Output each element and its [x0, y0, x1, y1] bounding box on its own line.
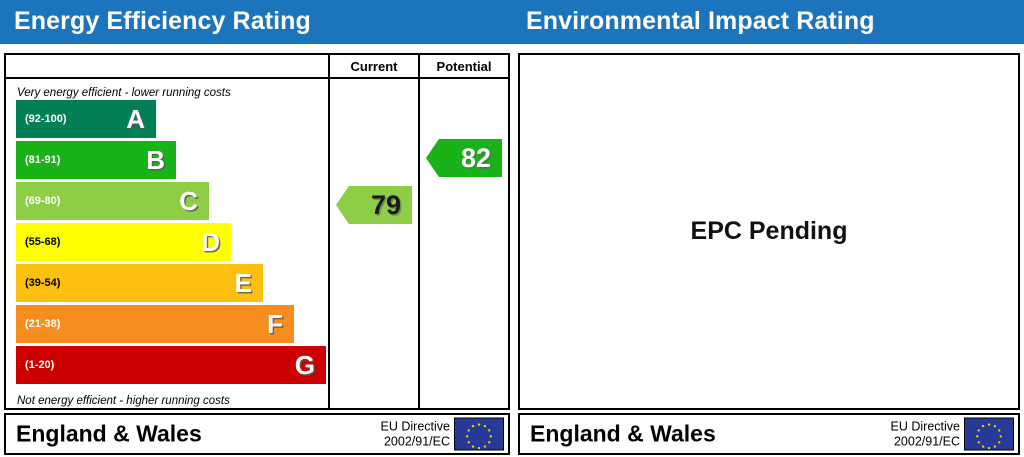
rating-band-d: (55-68)D — [16, 223, 231, 261]
rating-band-c: (69-80)C — [16, 182, 209, 220]
eu-directive-right: EU Directive 2002/91/EC — [891, 419, 960, 449]
eu-flag-icon — [964, 418, 1014, 451]
rating-band-f: (21-38)F — [16, 305, 294, 343]
eu-directive-line1: EU Directive — [381, 419, 450, 434]
eu-flag-icon — [454, 418, 504, 451]
epc-pending-text: EPC Pending — [520, 55, 1018, 408]
energy-efficiency-panel: Energy Efficiency Rating Current Potenti… — [0, 0, 512, 457]
band-range-c: (69-80) — [25, 195, 60, 207]
band-letter-b: B — [146, 147, 165, 173]
caption-very-efficient: Very energy efficient - lower running co… — [17, 87, 231, 99]
eu-directive-line2: 2002/91/EC — [381, 434, 450, 449]
rating-band-g: (1-20)G — [16, 346, 326, 384]
rating-value-current: 79 — [371, 192, 401, 219]
region-label-left: England & Wales — [16, 421, 202, 448]
rating-band-b: (81-91)B — [16, 141, 176, 179]
column-header-potential: Potential — [420, 59, 508, 74]
energy-efficiency-chart: Current Potential Very energy efficient … — [4, 53, 510, 410]
band-letter-d: D — [201, 229, 220, 255]
energy-efficiency-header: Energy Efficiency Rating — [0, 0, 512, 44]
column-header-current: Current — [330, 59, 418, 74]
rating-value-potential: 82 — [461, 145, 491, 172]
band-letter-a: A — [126, 106, 145, 132]
eu-directive-right-line1: EU Directive — [891, 419, 960, 434]
rating-arrow-potential: 82 — [426, 139, 502, 177]
epc-chart-root: Energy Efficiency Rating Current Potenti… — [0, 0, 1024, 457]
page-title: Energy Efficiency Rating — [14, 7, 311, 36]
eu-directive-right-line2: 2002/91/EC — [891, 434, 960, 449]
footer-left: England & Wales EU Directive 2002/91/EC — [4, 413, 510, 455]
footer-right: England & Wales EU Directive 2002/91/EC — [518, 413, 1020, 455]
band-range-b: (81-91) — [25, 154, 60, 166]
band-range-f: (21-38) — [25, 318, 60, 330]
band-letter-c: C — [179, 188, 198, 214]
band-letter-g: G — [295, 352, 315, 378]
band-range-g: (1-20) — [25, 359, 54, 371]
region-label-right: England & Wales — [530, 421, 716, 448]
band-letter-e: E — [235, 270, 252, 296]
column-divider-1 — [328, 55, 330, 408]
environmental-impact-chart: EPC Pending — [518, 53, 1020, 410]
rating-band-a: (92-100)A — [16, 100, 156, 138]
page-title-right: Environmental Impact Rating — [526, 7, 875, 36]
band-letter-f: F — [267, 311, 283, 337]
band-range-e: (39-54) — [25, 277, 60, 289]
caption-not-efficient: Not energy efficient - higher running co… — [17, 395, 230, 407]
rating-arrow-current: 79 — [336, 186, 412, 224]
rating-band-e: (39-54)E — [16, 264, 263, 302]
column-divider-2 — [418, 55, 420, 408]
eu-directive-left: EU Directive 2002/91/EC — [381, 419, 450, 449]
environmental-impact-header: Environmental Impact Rating — [512, 0, 1024, 44]
eu-flag-stars-icon — [455, 419, 503, 450]
eu-flag-stars-icon — [965, 419, 1013, 450]
band-range-d: (55-68) — [25, 236, 60, 248]
band-range-a: (92-100) — [25, 113, 67, 125]
